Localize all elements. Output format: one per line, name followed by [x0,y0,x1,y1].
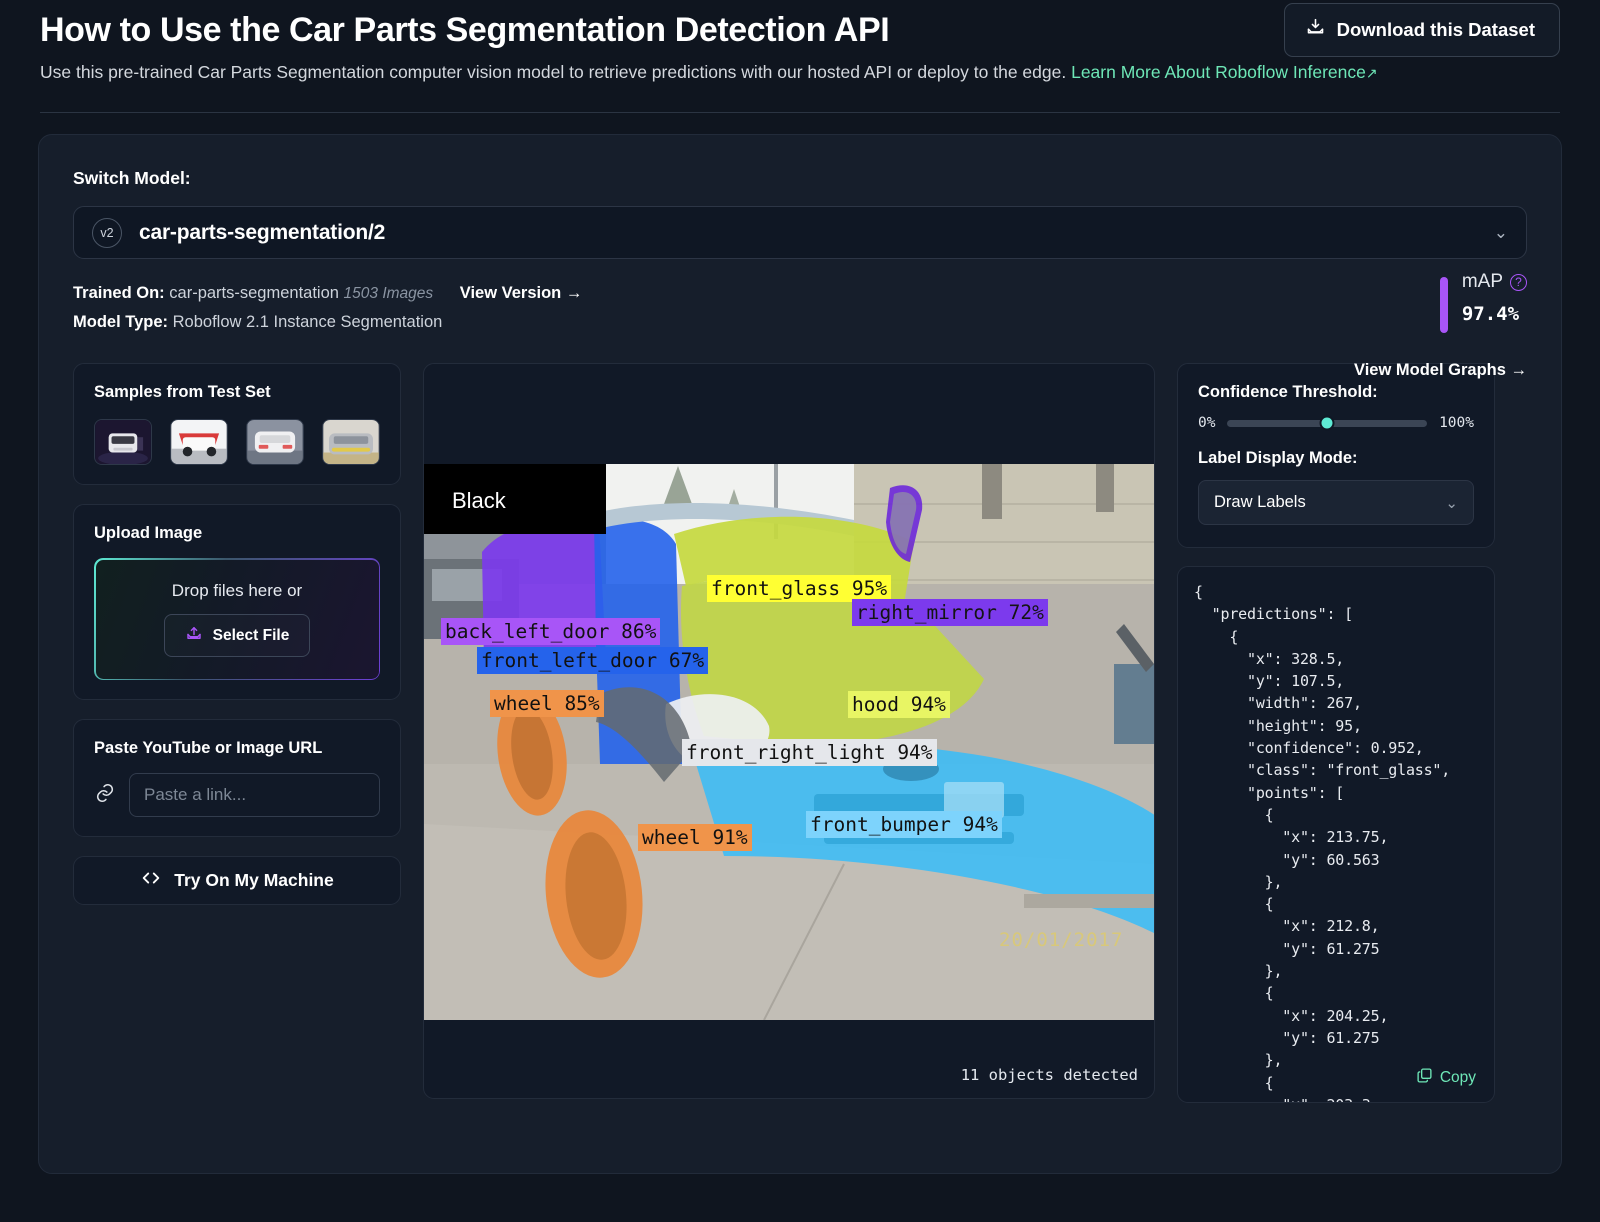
sample-thumbnail-3[interactable] [246,419,304,465]
model-type-value: Roboflow 2.1 Instance Segmentation [173,313,443,331]
url-input[interactable] [129,773,380,817]
black-label: Black [452,488,506,514]
samples-title: Samples from Test Set [94,383,380,402]
samples-thumbnail-list [94,419,380,465]
detection-label-hood: hood 94% [848,691,950,718]
detection-label-front-glass: front_glass 95% [707,575,891,602]
map-label: mAP [1462,271,1503,293]
switch-model-label: Switch Model: [73,168,1527,189]
upload-panel: Upload Image Drop files here or [73,504,401,700]
confidence-slider-row: 0% 100% [1198,415,1474,431]
label-display-mode-value: Draw Labels [1214,493,1306,512]
subtitle-text: Use this pre-trained Car Parts Segmentat… [40,62,1071,82]
map-bar-indicator [1440,277,1448,333]
external-link-icon: ↗ [1366,65,1378,81]
view-model-graphs-link[interactable]: View Model Graphs → [1354,361,1527,380]
select-file-label: Select File [213,627,290,645]
download-icon [1305,17,1326,43]
model-version-badge: v2 [92,218,122,248]
detection-label-front-left-door: front_left_door 67% [477,647,708,674]
right-column: Confidence Threshold: 0% 100% Label Disp… [1177,363,1495,1103]
sample-thumbnail-1[interactable] [94,419,152,465]
copy-button[interactable]: Copy [1408,1064,1480,1092]
page-subtitle: Use this pre-trained Car Parts Segmentat… [40,52,1560,88]
label-display-mode-label: Label Display Mode: [1198,449,1474,468]
file-dropzone[interactable]: Drop files here or Select File [94,558,380,680]
model-type-row: Model Type: Roboflow 2.1 Instance Segmen… [73,308,1527,337]
json-output-panel: { "predictions": [ { "x": 328.5, "y": 10… [1177,566,1495,1103]
chevron-down-icon: ⌄ [1445,494,1458,512]
sample-thumbnail-4[interactable] [322,419,380,465]
trained-on-value: car-parts-segmentation [169,284,339,302]
link-icon [94,782,116,809]
upload-title: Upload Image [94,524,380,543]
trained-on-label: Trained On: [73,284,165,302]
map-label-row: mAP ? [1462,271,1527,293]
label-display-mode-select[interactable]: Draw Labels ⌄ [1198,480,1474,525]
dropzone-text: Drop files here or [172,581,302,601]
middle-column: Black front_glass 95% right_mirror 72% b… [423,363,1155,1103]
url-panel-title: Paste YouTube or Image URL [94,739,380,758]
image-count: 1503 Images [344,285,434,302]
view-version-link[interactable]: View Version → [460,284,583,302]
model-select-dropdown[interactable]: v2 car-parts-segmentation/2 ⌄ [73,206,1527,259]
confidence-slider-thumb[interactable] [1320,416,1335,431]
slider-min-label: 0% [1198,415,1215,431]
code-icon [140,867,162,894]
trained-on-row: Trained On: car-parts-segmentation 1503 … [73,279,1527,308]
json-output-text: { "predictions": [ { "x": 328.5, "y": 10… [1194,581,1478,1103]
chevron-down-icon: ⌄ [1494,223,1508,243]
detection-label-wheel-91: wheel 91% [638,824,752,851]
detection-label-wheel-85: wheel 85% [490,690,604,717]
detection-label-front-right-light: front_right_light 94% [682,739,937,766]
detection-label-right-mirror: right_mirror 72% [852,599,1048,626]
page-root: How to Use the Car Parts Segmentation De… [0,0,1600,1222]
download-dataset-button[interactable]: Download this Dataset [1284,3,1560,57]
copy-icon [1416,1067,1433,1089]
copy-label: Copy [1440,1069,1476,1087]
map-value: 97.4% [1462,303,1527,325]
download-dataset-label: Download this Dataset [1337,19,1535,41]
model-type-label: Model Type: [73,313,168,331]
help-icon[interactable]: ? [1510,274,1527,291]
url-panel: Paste YouTube or Image URL [73,719,401,837]
map-metric: mAP ? 97.4% [1440,271,1527,333]
header-divider [40,112,1560,113]
objects-detected-count: 11 objects detected [961,1066,1138,1084]
sample-thumbnail-2[interactable] [170,419,228,465]
select-file-button[interactable]: Select File [164,614,311,657]
controls-panel: Confidence Threshold: 0% 100% Label Disp… [1177,363,1495,548]
model-meta: Trained On: car-parts-segmentation 1503 … [73,279,1527,337]
learn-more-link[interactable]: Learn More About Roboflow Inference [1071,62,1366,82]
content-columns: Samples from Test Set [73,363,1527,1103]
confidence-threshold-label: Confidence Threshold: [1198,383,1474,402]
left-column: Samples from Test Set [73,363,401,1103]
detection-label-back-left-door: back_left_door 86% [441,618,660,645]
try-on-my-machine-label: Try On My Machine [174,870,333,891]
prediction-preview-panel: Black front_glass 95% right_mirror 72% b… [423,363,1155,1099]
image-timestamp: 20/01/2017 [999,929,1123,951]
slider-max-label: 100% [1439,415,1474,431]
upload-icon [185,624,203,647]
try-on-my-machine-button[interactable]: Try On My Machine [73,856,401,905]
detection-label-front-bumper: front_bumper 94% [806,811,1002,838]
model-name-label: car-parts-segmentation/2 [139,221,385,245]
confidence-slider[interactable] [1227,420,1427,427]
samples-panel: Samples from Test Set [73,363,401,485]
page-header: How to Use the Car Parts Segmentation De… [0,0,1600,88]
main-card: Switch Model: v2 car-parts-segmentation/… [38,134,1562,1174]
